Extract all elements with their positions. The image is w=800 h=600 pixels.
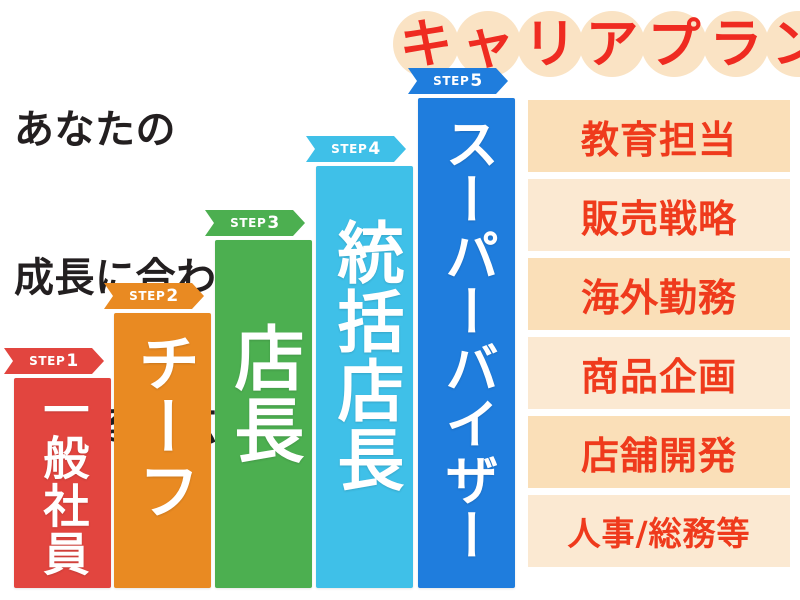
step-bar-3[interactable]: 店長 [215,240,312,588]
infographic-canvas: あなたの 成長に合わせて 選べる幅広い キ ャ リ ア プ ラ ン STEP1 … [0,0,800,600]
step-title-4: 統括店長 [330,218,400,494]
role-item-5[interactable]: 店舗開発 [528,416,790,488]
title-char: ラ [702,10,770,78]
step-ribbon-word: STEP [129,289,165,303]
step-column-2: STEP2 チーフ [114,283,211,588]
title-char-text: ア [586,18,639,71]
step-title-5: スーパーバイザー [438,116,494,564]
step-column-3: STEP3 店長 [215,210,312,588]
step-ribbon-4: STEP4 [306,136,406,162]
title-char: ア [578,10,646,78]
title-char: ン [764,10,800,78]
role-item-6[interactable]: 人事/総務等 [528,495,790,567]
step-ribbon-word: STEP [29,354,65,368]
step-title-2: チーフ [130,331,194,523]
role-item-1[interactable]: 教育担当 [528,100,790,172]
role-label: 商品企画 [581,346,737,401]
role-label: 店舗開発 [581,425,737,480]
step-ribbon-3: STEP3 [205,210,305,236]
step-column-1: STEP1 一般社員 [14,348,111,588]
step-ribbon-1: STEP1 [4,348,104,374]
step-ribbon-word: STEP [331,142,367,156]
step-title-1: 一般社員 [39,386,87,578]
step-ribbon-word: STEP [433,74,469,88]
step-ribbon-number: 4 [368,139,380,159]
role-item-2[interactable]: 販売戦略 [528,179,790,251]
step-bar-4[interactable]: 統括店長 [316,166,413,588]
step-column-4: STEP4 統括店長 [316,136,413,588]
step-bar-2[interactable]: チーフ [114,313,211,588]
step-ribbon-number: 3 [267,213,279,233]
step-ribbon-2: STEP2 [104,283,204,309]
title-char-text: ャ [462,18,515,71]
role-item-4[interactable]: 商品企画 [528,337,790,409]
role-label: 人事/総務等 [567,507,750,555]
step-title-3: 店長 [227,322,300,466]
role-label: 販売戦略 [581,188,737,243]
title-char: ャ [454,10,522,78]
title-char-text: リ [524,18,577,71]
title-char-text: プ [648,18,701,71]
step-ribbon-number: 2 [166,286,178,306]
role-label: 教育担当 [581,109,737,164]
title-char: プ [640,10,708,78]
title-char-text: キ [400,18,453,71]
role-list: 教育担当 販売戦略 海外勤務 商品企画 店舗開発 人事/総務等 [528,100,790,574]
title-char: リ [516,10,584,78]
title-char-text: ラ [710,18,763,71]
role-item-3[interactable]: 海外勤務 [528,258,790,330]
role-label: 海外勤務 [581,267,737,322]
title-char-text: ン [772,18,800,71]
step-column-5: STEP5 スーパーバイザー [418,68,515,588]
title-char: キ [392,10,460,78]
step-ribbon-word: STEP [230,216,266,230]
step-ribbon-number: 1 [66,351,78,371]
step-bar-5[interactable]: スーパーバイザー [418,98,515,588]
step-bar-1[interactable]: 一般社員 [14,378,111,588]
